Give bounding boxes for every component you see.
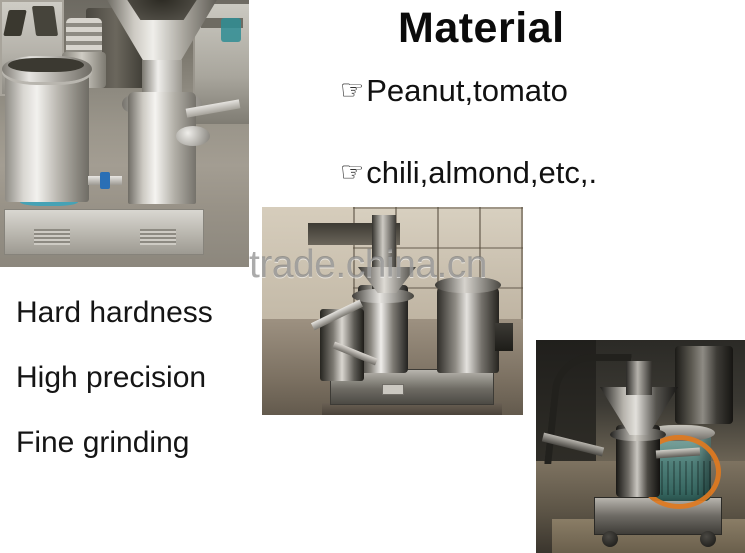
background-drum xyxy=(675,346,733,424)
product-image-canvas: Material ☞ Peanut,tomato ☞ chili,almond,… xyxy=(0,0,745,553)
caster-wheel xyxy=(602,531,618,547)
pointing-hand-icon: ☞ xyxy=(340,77,364,104)
electric-motor xyxy=(437,287,499,373)
page-title: Material xyxy=(398,4,728,52)
base-vent xyxy=(34,229,70,245)
name-plate xyxy=(382,384,404,395)
colloid-mill-workshop-photo xyxy=(0,0,249,267)
storage-tank xyxy=(5,62,89,202)
outlet-valve xyxy=(88,176,122,185)
blue-hose xyxy=(20,196,78,206)
photo-scene xyxy=(0,0,249,267)
hopper-neck xyxy=(142,60,182,94)
feature-label: Hard hardness xyxy=(16,296,213,329)
material-bullet-label: chili,almond,etc,. xyxy=(366,156,597,190)
material-bullet: ☞ Peanut,tomato xyxy=(340,74,568,108)
feed-inlet xyxy=(626,361,652,395)
material-bullet: ☞ chili,almond,etc,. xyxy=(340,156,597,190)
base-vent xyxy=(140,229,176,245)
tank-opening xyxy=(8,58,84,72)
adjust-knob xyxy=(176,126,210,146)
teal-object xyxy=(221,18,241,42)
feature-label: High precision xyxy=(16,361,206,394)
pointing-hand-icon: ☞ xyxy=(340,159,364,186)
motor-cap xyxy=(435,277,501,293)
feature-label: Fine grinding xyxy=(16,426,189,459)
photo-scene xyxy=(536,340,745,553)
colloid-mill-floor-photo xyxy=(262,207,523,415)
terminal-box xyxy=(495,323,513,351)
caster-wheel xyxy=(700,531,716,547)
material-bullet-label: Peanut,tomato xyxy=(366,74,568,108)
colloid-mill-motor-photo xyxy=(536,340,745,553)
photo-scene xyxy=(262,207,523,415)
